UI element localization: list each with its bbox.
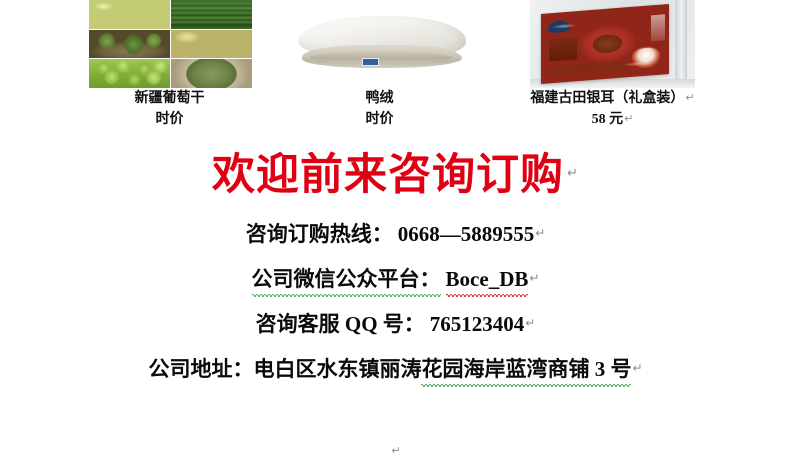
contact-value-hotline: 0668—5889555 <box>398 219 535 249</box>
pilcrow-mark <box>394 91 395 104</box>
pilcrow-mark: ↵ <box>534 226 545 240</box>
contact-hotline-line: 咨询订购热线：0668—5889555↵ <box>0 218 791 249</box>
fujian-gutian-tremella-giftbox-image <box>530 0 695 88</box>
xinjiang-raisins-collage-image <box>89 0 252 88</box>
raisins-photo-collage <box>89 0 252 88</box>
collage-cell-basket-of-raisins <box>171 59 252 88</box>
giftbox-info-strip <box>549 61 625 74</box>
duvet-illustration <box>288 0 473 88</box>
shelf-right-edge <box>675 0 687 88</box>
pilcrow-mark: ↵ <box>390 444 400 457</box>
collage-cell-drying-rack <box>89 30 170 59</box>
collage-cell-dried-raisins <box>89 0 170 29</box>
product-price-tremella: 58 元↵ <box>495 109 730 130</box>
contact-value-qq: 765123404 <box>430 309 525 339</box>
duvet-fold-line <box>310 52 452 63</box>
contact-label-qq: 咨询客服 QQ 号： <box>256 309 425 339</box>
tremella-gift-box <box>541 4 669 84</box>
pilcrow-mark: ↵ <box>528 271 539 285</box>
product-name-raisins: 新疆葡萄干 <box>60 88 280 109</box>
pilcrow-mark: ↵ <box>684 91 694 104</box>
contact-wechat-line: 公司微信公众平台：Boce_DB↵ <box>0 263 791 294</box>
contact-label-address: 公司地址：电白区水东镇丽涛 <box>148 354 421 384</box>
headline-text: 欢迎前来咨询订购 <box>212 152 564 199</box>
pilcrow-mark: ↵ <box>631 361 642 375</box>
contact-qq-line: 咨询客服 QQ 号：765123404↵ <box>0 308 791 339</box>
giftbox-brand-logo <box>548 20 570 34</box>
giftbox-side-panel <box>651 14 665 41</box>
product-item-tremella[interactable]: 福建古田银耳（礼盒装）↵ 58 元↵ <box>495 0 730 130</box>
giftbox-title-text <box>549 37 577 61</box>
product-price-raisins: 时价 <box>60 109 280 130</box>
pilcrow-mark: ↵ <box>566 166 579 181</box>
product-name-duck-down: 鸭绒 <box>285 88 475 109</box>
pilcrow-mark <box>184 112 185 125</box>
giftbox-soup-bowl-photo <box>632 46 660 69</box>
contact-value-address: 花园海岸蓝湾商铺 3 号 <box>421 354 631 384</box>
trailing-empty-paragraph: ↵ <box>0 442 791 460</box>
duck-down-duvet-image <box>288 0 473 88</box>
collage-cell-vineyard-field <box>171 0 252 29</box>
glass-shelf-background <box>530 0 695 88</box>
contact-label-hotline: 咨询订购热线： <box>246 219 393 249</box>
document-page: 新疆葡萄干 时价 鸭绒 时价 <box>0 0 791 461</box>
contact-address-line: 公司地址：电白区水东镇丽涛花园海岸蓝湾商铺 3 号↵ <box>0 353 791 384</box>
pilcrow-mark: ↵ <box>623 112 633 125</box>
product-item-duck-down[interactable]: 鸭绒 时价 <box>285 0 475 130</box>
product-name-tremella: 福建古田银耳（礼盒装）↵ <box>495 88 730 109</box>
duvet-brand-tag <box>362 58 379 66</box>
product-row: 新疆葡萄干 时价 鸭绒 时价 <box>0 0 791 140</box>
pilcrow-mark <box>205 91 206 104</box>
collage-cell-green-grapes <box>89 59 170 88</box>
pilcrow-mark: ↵ <box>524 316 535 330</box>
page-headline: 欢迎前来咨询订购↵ <box>0 148 791 202</box>
product-item-raisins[interactable]: 新疆葡萄干 时价 <box>60 0 280 130</box>
collage-cell-raisin-closeup <box>171 30 252 59</box>
contact-value-wechat[interactable]: Boce_DB <box>446 264 529 294</box>
pilcrow-mark <box>394 112 395 125</box>
contact-label-wechat: 公司微信公众平台： <box>252 264 441 294</box>
product-price-duck-down: 时价 <box>285 109 475 130</box>
